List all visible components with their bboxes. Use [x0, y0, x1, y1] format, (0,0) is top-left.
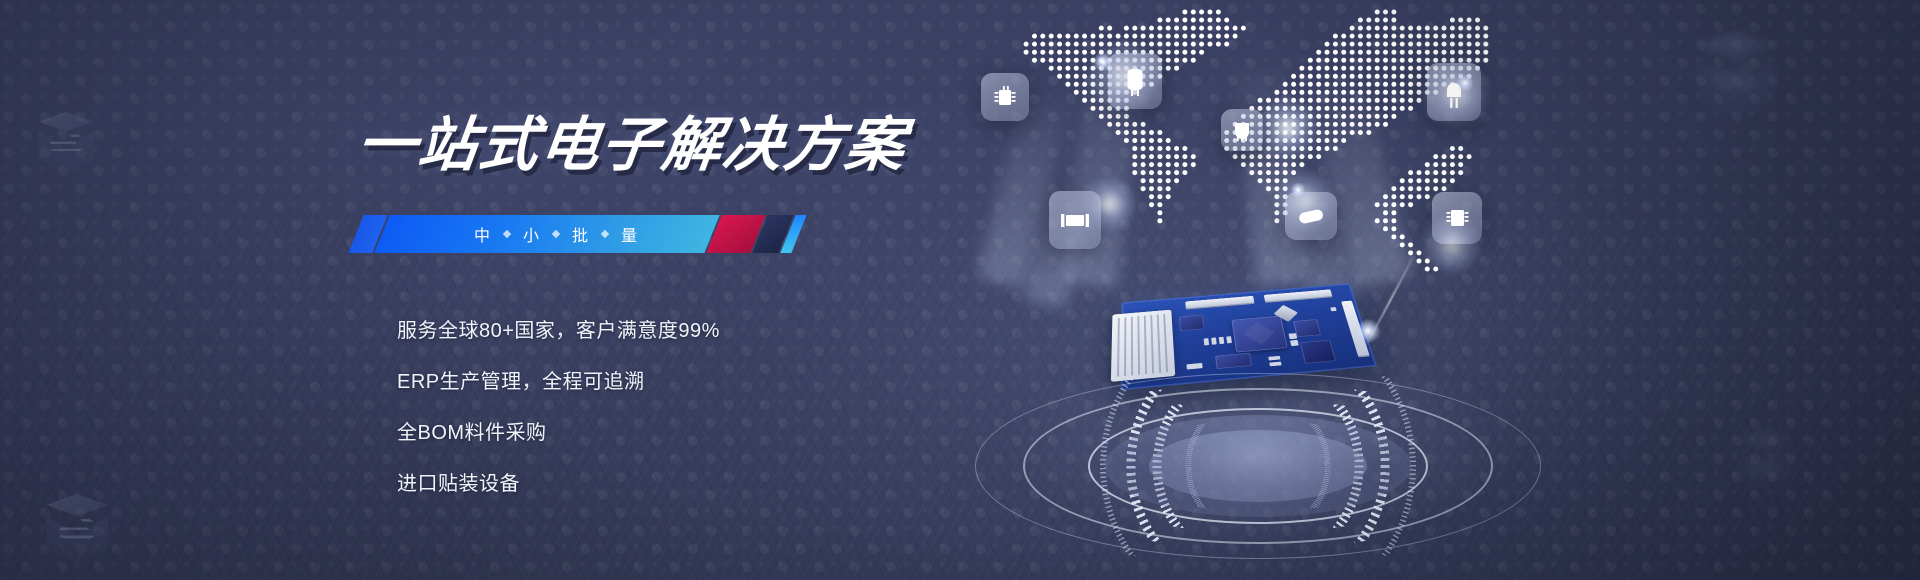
list-item: 全BOM料件采购	[397, 423, 877, 443]
feature-list: 服务全球80+国家，客户满意度99% ERP生产管理，全程可追溯 全BOM料件采…	[357, 321, 877, 525]
tagline-ribbon: 中 小 批 量	[356, 215, 796, 253]
list-item: ERP生产管理，全程可追溯	[397, 372, 877, 392]
hero-banner: 一站式电子解决方案 中 小 批 量 服务全球80+国家，客户满意度99% ERP…	[0, 0, 1920, 580]
ribbon-word: 量	[608, 222, 651, 246]
vignette-overlay	[0, 0, 1920, 580]
page-title: 一站式电子解决方案	[353, 97, 912, 182]
ribbon-text: 中 小 批 量	[398, 215, 714, 253]
ribbon-word: 小	[510, 222, 553, 246]
list-item: 服务全球80+国家，客户满意度99%	[397, 321, 877, 341]
ribbon-word: 批	[559, 222, 602, 246]
ribbon-word: 中	[461, 222, 504, 246]
list-item: 进口贴装设备	[397, 474, 877, 494]
